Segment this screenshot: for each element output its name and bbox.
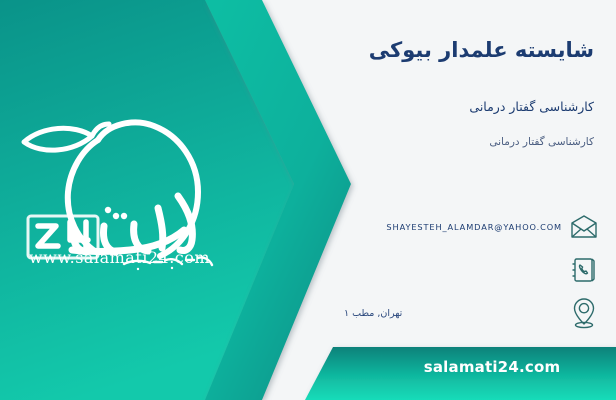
contact-row-email[interactable]: SHAYESTEH_ALAMDAR@YAHOO.COM xyxy=(340,208,600,246)
card-content: شایسته علمدار بیوکی کارشناسی گفتار درمان… xyxy=(330,0,616,400)
brand-logo: www.salamati24.com xyxy=(12,100,227,285)
contact-list: SHAYESTEH_ALAMDAR@YAHOO.COM xyxy=(340,208,600,337)
logo-website: www.salamati24.com xyxy=(12,248,227,267)
phonebook-icon xyxy=(568,253,600,287)
contact-row-phone[interactable] xyxy=(340,251,600,289)
business-card: www.salamati24.com شایسته علمدار بیوکی ک… xyxy=(0,0,616,400)
email-text: SHAYESTEH_ALAMDAR@YAHOO.COM xyxy=(340,222,568,232)
specialty-secondary: کارشناسی گفتار درمانی xyxy=(489,136,594,148)
person-name: شایسته علمدار بیوکی xyxy=(369,38,594,62)
footer-website[interactable]: salamati24.com xyxy=(392,358,592,376)
contact-row-address[interactable]: تهران, مطب ۱ xyxy=(340,294,600,332)
location-pin-icon xyxy=(568,296,600,330)
specialty-primary: کارشناسی گفتار درمانی xyxy=(469,99,594,114)
address-text: تهران, مطب ۱ xyxy=(340,308,568,319)
envelope-icon xyxy=(568,210,600,244)
